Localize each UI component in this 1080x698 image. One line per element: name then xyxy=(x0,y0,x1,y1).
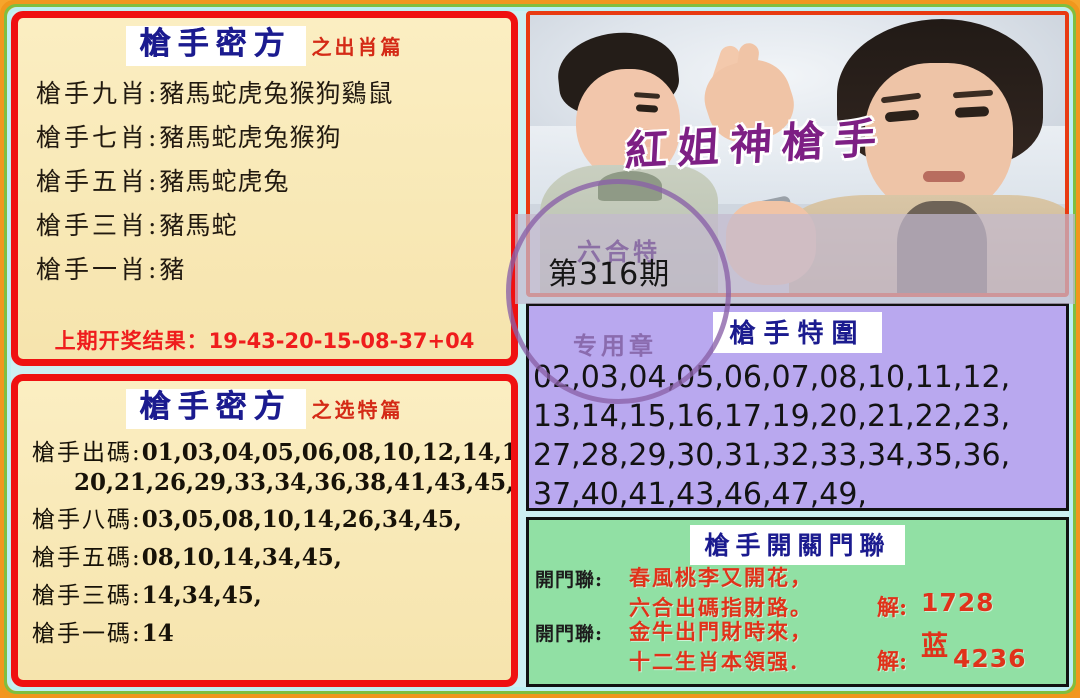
code-row-value: 14 xyxy=(142,620,174,647)
couplet-panel: 槍手開關門聯 開門聯: 春風桃李又開花， 六合出碼指財路。 解: 1728 開門… xyxy=(526,517,1069,687)
code-row-label: 槍手八碼: xyxy=(32,507,142,533)
zodiac-row-value: 豬馬蛇 xyxy=(159,211,237,240)
woman-eye-right xyxy=(955,106,989,118)
zodiac-title-box: 槍手密方 xyxy=(126,26,306,66)
couplet-line-2b: 十二生肖本領强. xyxy=(629,646,799,676)
code-row-value-continued: 20,21,26,29,33,34,36,38,41,43,45,48, xyxy=(74,469,511,496)
zodiac-row-label: 槍手九肖: xyxy=(36,79,159,108)
range-numbers: 02,03,04,05,06,07,08,10,11,12, 13,14,15,… xyxy=(533,358,1064,511)
codes-title-sub: 之选特篇 xyxy=(312,394,404,423)
right-column: 紅姐神槍手 槍手特圍 02,03,04,05,06,07,08,10,11,12… xyxy=(526,11,1069,687)
woman-face xyxy=(865,63,1013,215)
issue-label: 第316期 xyxy=(548,249,670,293)
answer-label-second: 解: xyxy=(877,644,907,676)
zodiac-row-label: 槍手三肖: xyxy=(36,211,159,240)
zodiac-row-value: 豬馬蛇虎兔猴狗鷄鼠 xyxy=(159,79,393,108)
range-number-line: 13,14,15,16,17,19,20,21,22,23, xyxy=(533,397,1064,436)
zodiac-row-label: 槍手一肖: xyxy=(36,255,159,284)
couplet-line-2a: 金牛出門財時來， xyxy=(629,616,813,646)
zodiac-row: 槍手七肖:豬馬蛇虎兔猴狗 xyxy=(36,118,511,154)
couplet-panel-header: 槍手開關門聯 xyxy=(529,525,1066,565)
zodiac-row-value: 豬 xyxy=(159,255,185,284)
zodiac-title-main: 槍手密方 xyxy=(140,26,292,62)
zodiac-row-label: 槍手五肖: xyxy=(36,167,159,196)
couplet-line-1a: 春風桃李又開花， xyxy=(629,562,813,592)
code-row-label: 槍手三碼: xyxy=(32,583,142,609)
couplet-title: 槍手開關門聯 xyxy=(704,531,890,560)
range-title: 槍手特圍 xyxy=(729,319,865,349)
code-row: 槍手八碼:03,05,08,10,14,26,34,45, xyxy=(32,500,511,534)
range-panel: 槍手特圍 02,03,04,05,06,07,08,10,11,12, 13,1… xyxy=(526,303,1069,511)
code-row: 槍手五碼:08,10,14,34,45, xyxy=(32,538,511,572)
code-row: 槍手三碼:14,34,45, xyxy=(32,576,511,610)
couplet-label-second: 開門聯: xyxy=(535,619,603,646)
left-column: 槍手密方 之出肖篇 槍手九肖:豬馬蛇虎兔猴狗鷄鼠 槍手七肖:豬馬蛇虎兔猴狗 槍手… xyxy=(11,11,518,687)
codes-title-box: 槍手密方 xyxy=(126,389,306,429)
zodiac-row: 槍手一肖:豬 xyxy=(36,250,511,286)
zodiac-title-sub: 之出肖篇 xyxy=(312,31,404,60)
code-row-value: 03,05,08,10,14,26,34,45, xyxy=(142,506,462,533)
couplet-label-first: 開門聯: xyxy=(535,565,603,592)
codes-title-main: 槍手密方 xyxy=(140,389,292,425)
last-draw-result: 上期开奖结果：19-43-20-15-08-37+04 xyxy=(18,325,511,355)
code-row-value: 08,10,14,34,45, xyxy=(142,544,342,571)
range-number-line: 02,03,04,05,06,07,08,10,11,12, xyxy=(533,358,1064,397)
code-row-label: 槍手一碼: xyxy=(32,621,142,647)
codes-panel: 槍手密方 之选特篇 槍手出碼:01,03,04,05,06,08,10,12,1… xyxy=(11,374,518,687)
code-row-value: 01,03,04,05,06,08,10,12,14,17, xyxy=(142,439,518,466)
codes-panel-header: 槍手密方 之选特篇 xyxy=(18,389,511,429)
zodiac-row-value: 豬馬蛇虎兔 xyxy=(159,167,289,196)
answer-label-first: 解: xyxy=(877,590,907,622)
answer-color-second: 蓝 xyxy=(921,624,948,663)
zodiac-panel: 槍手密方 之出肖篇 槍手九肖:豬馬蛇虎兔猴狗鷄鼠 槍手七肖:豬馬蛇虎兔猴狗 槍手… xyxy=(11,11,518,366)
zodiac-row: 槍手五肖:豬馬蛇虎兔 xyxy=(36,162,511,198)
poster-root: 槍手密方 之出肖篇 槍手九肖:豬馬蛇虎兔猴狗鷄鼠 槍手七肖:豬馬蛇虎兔猴狗 槍手… xyxy=(0,0,1080,698)
last-draw-label: 上期开奖结果： xyxy=(55,329,209,353)
couplet-title-box: 槍手開關門聯 xyxy=(690,525,904,565)
zodiac-row: 槍手三肖:豬馬蛇 xyxy=(36,206,511,242)
zodiac-row-label: 槍手七肖: xyxy=(36,123,159,152)
answer-value-first: 1728 xyxy=(921,588,995,617)
zodiac-row-value: 豬馬蛇虎兔猴狗 xyxy=(159,123,341,152)
zodiac-panel-header: 槍手密方 之出肖篇 xyxy=(18,26,511,66)
woman-mouth xyxy=(923,171,965,182)
last-draw-numbers: 19-43-20-15-08-37+04 xyxy=(209,329,475,353)
range-number-line: 37,40,41,43,46,47,49, xyxy=(533,475,1064,511)
range-number-line: 27,28,29,30,31,32,33,34,35,36, xyxy=(533,436,1064,475)
code-row: 槍手出碼:01,03,04,05,06,08,10,12,14,17, xyxy=(32,433,511,467)
code-row: 槍手一碼:14 xyxy=(32,614,511,648)
code-row-label: 槍手五碼: xyxy=(32,545,142,571)
range-panel-header: 槍手特圍 xyxy=(529,312,1066,353)
code-row-label: 槍手出碼: xyxy=(32,440,142,466)
child-eye xyxy=(636,104,658,113)
answer-value-second: 4236 xyxy=(953,644,1027,673)
content-area: 槍手密方 之出肖篇 槍手九肖:豬馬蛇虎兔猴狗鷄鼠 槍手七肖:豬馬蛇虎兔猴狗 槍手… xyxy=(11,11,1069,687)
code-row-value: 14,34,45, xyxy=(142,582,262,609)
range-title-box: 槍手特圍 xyxy=(713,312,881,353)
zodiac-row: 槍手九肖:豬馬蛇虎兔猴狗鷄鼠 xyxy=(36,74,511,110)
